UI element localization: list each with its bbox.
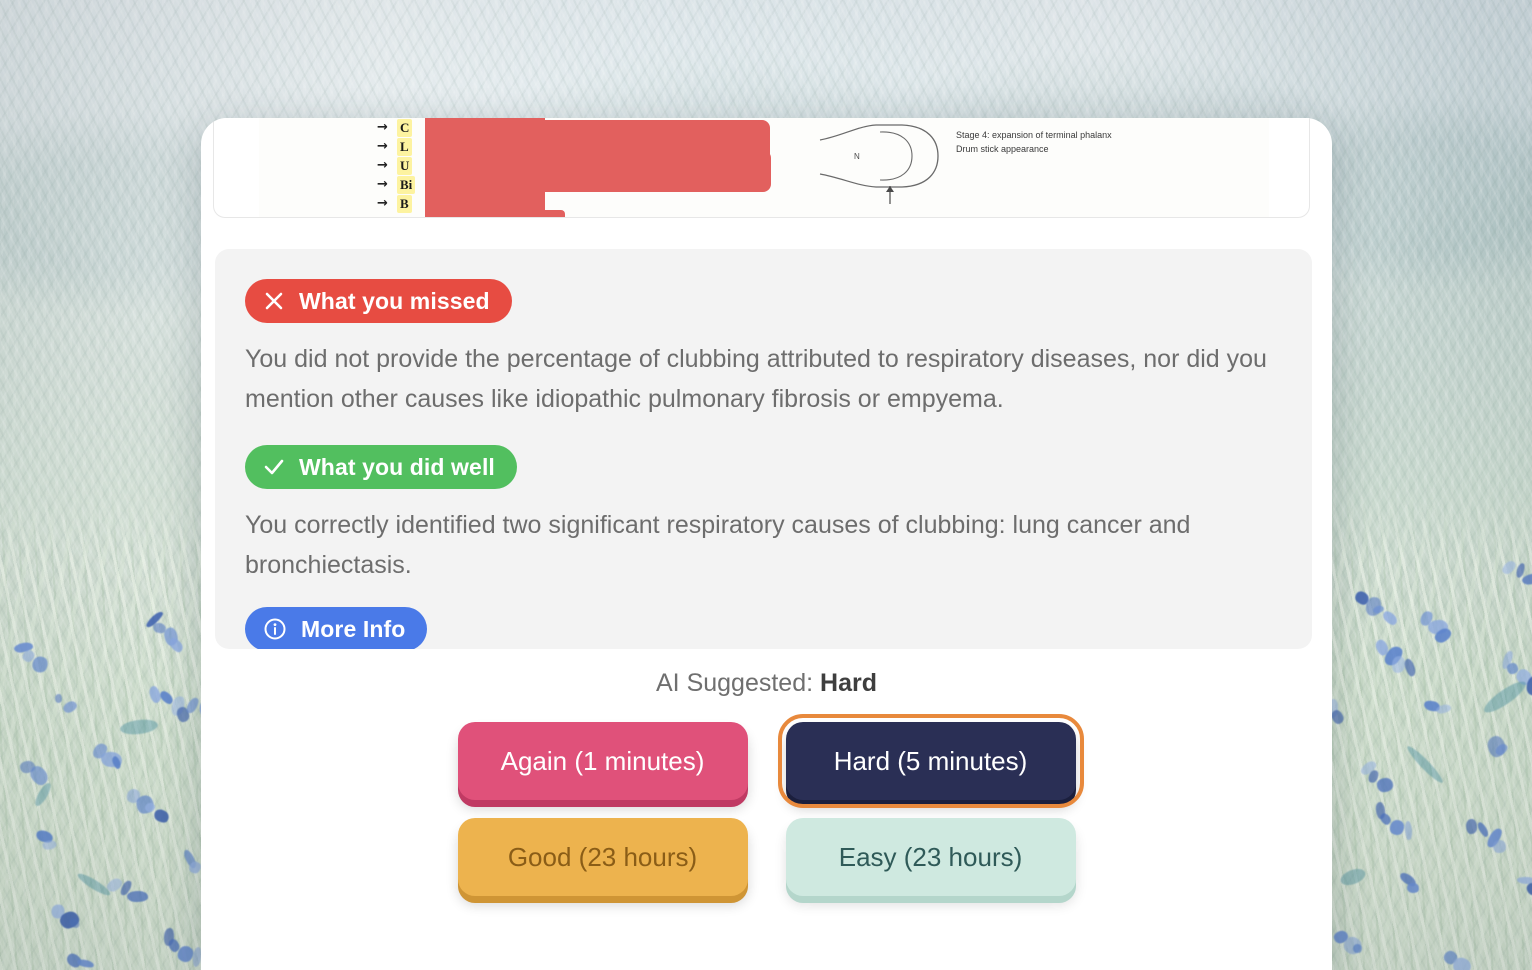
badge-label: More Info	[301, 616, 405, 643]
more-info-button[interactable]: More Info	[245, 607, 427, 649]
note-image: →C→L→U→Bi→B Stage 3: increase curvature …	[259, 118, 1269, 218]
feedback-panel: What you missed You did not provide the …	[215, 249, 1312, 649]
badge-label: What you did well	[299, 454, 495, 481]
arrow-right-icon: →	[377, 121, 397, 134]
rate-good-button[interactable]: Good (23 hours)	[458, 818, 748, 896]
stage4-finger-drawing: N	[816, 118, 966, 208]
clubbing-stage-diagram: Stage 3: increase curvature of nail N	[814, 118, 1244, 218]
arrow-right-icon: →	[377, 140, 397, 153]
badge-label: What you missed	[299, 288, 490, 315]
ai-suggested-value: Hard	[820, 669, 877, 697]
well-body-text: You correctly identified two significant…	[245, 505, 1282, 585]
rate-again-button[interactable]: Again (1 minutes)	[458, 722, 748, 800]
redaction-mark	[425, 210, 565, 218]
stage4-caption-line2: Drum stick appearance	[956, 143, 1049, 156]
stage4-caption-line1: Stage 4: expansion of terminal phalanx	[956, 129, 1112, 142]
what-you-missed-badge: What you missed	[245, 279, 512, 323]
arrow-right-icon: →	[377, 197, 397, 210]
svg-text:N: N	[854, 152, 860, 161]
note-bullet-label: U	[397, 157, 412, 175]
redaction-mark	[509, 150, 771, 192]
note-image-viewport[interactable]: →C→L→U→Bi→B Stage 3: increase curvature …	[213, 118, 1310, 218]
arrow-right-icon: →	[377, 159, 397, 172]
info-circle-icon	[263, 617, 287, 641]
arrow-right-icon: →	[377, 178, 397, 191]
check-icon	[263, 456, 285, 478]
missed-body-text: You did not provide the percentage of cl…	[245, 339, 1282, 419]
note-bullet-label: C	[397, 119, 412, 137]
note-bullet-label: Bi	[397, 176, 415, 194]
rating-button-grid: Again (1 minutes) Hard (5 minutes) Good …	[458, 722, 1076, 896]
rate-easy-button[interactable]: Easy (23 hours)	[786, 818, 1076, 896]
review-card: →C→L→U→Bi→B Stage 3: increase curvature …	[201, 118, 1332, 970]
ai-suggested-label: AI Suggested: Hard	[201, 649, 1332, 698]
rate-hard-button[interactable]: Hard (5 minutes)	[786, 722, 1076, 800]
close-icon	[263, 290, 285, 312]
app-root: →C→L→U→Bi→B Stage 3: increase curvature …	[0, 0, 1532, 970]
what-you-did-well-badge: What you did well	[245, 445, 517, 489]
note-bullet-label: L	[397, 138, 412, 156]
note-bullet-label: B	[397, 195, 412, 213]
rating-area: AI Suggested: Hard Again (1 minutes) Har…	[201, 649, 1332, 970]
ai-suggested-prefix: AI Suggested:	[656, 669, 820, 697]
